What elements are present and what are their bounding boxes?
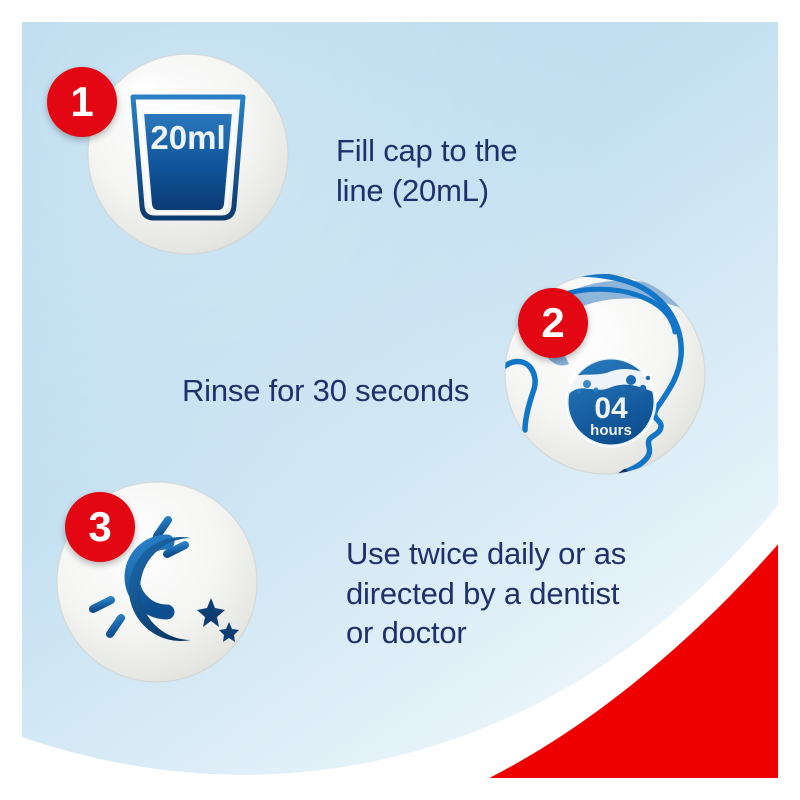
step-3-number-badge[interactable]: 3 (65, 492, 135, 562)
step-2-text: Rinse for 30 seconds (182, 371, 512, 411)
instructions-infographic: 20ml 1 Fill cap to the line (20mL) (0, 0, 800, 800)
step-1-number-badge[interactable]: 1 (47, 67, 117, 137)
step-3-text: Use twice daily or as directed by a dent… (346, 534, 686, 653)
step-1-text: Fill cap to the line (20mL) (336, 131, 616, 210)
step-2-number-badge[interactable]: 2 (518, 288, 588, 358)
